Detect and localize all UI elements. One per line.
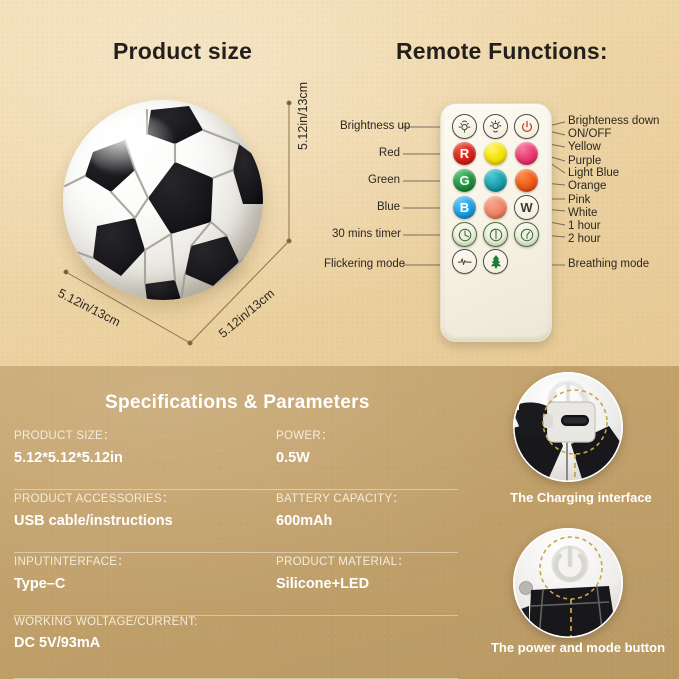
table-row: PRODUCT SIZE： 5.12*5.12*5.12in POWER： 0.… [14,427,472,490]
power-mode-button-photo [513,528,623,638]
table-row: INPUTINTERFACE： Type–C PRODUCT MATERIAL：… [14,553,472,616]
remote-label-white: White [568,207,597,219]
spec-value: 600mAh [276,513,404,529]
blue-button-label: B [460,201,469,214]
yellow-button[interactable] [484,142,507,165]
remote-label-breathing-mode: Breathing mode [568,258,649,270]
flickering-mode-button[interactable] [452,249,477,274]
product-image-soccer-ball [55,96,270,311]
red-button[interactable]: R [453,142,476,165]
white-button[interactable]: W [514,195,539,220]
brightness-up-button[interactable] [452,114,477,139]
remote-label-purple: Purple [568,155,601,167]
specifications-table: PRODUCT SIZE： 5.12*5.12*5.12in POWER： 0.… [14,427,472,679]
remote-button-grid[interactable]: R G B W [449,113,542,275]
remote-label-on-off: ON/OFF [568,128,611,140]
remote-label-red: Red [340,147,400,159]
usb-c-port-photo-illustration [513,372,623,482]
spec-key: PRODUCT MATERIAL： [276,553,409,569]
page-title-product-size: Product size [113,38,252,65]
dimension-label-height: 5.12in/13cm [296,82,310,150]
spec-value: 0.5W [276,450,333,466]
spec-cell-working-voltage: WORKING WOLTAGE/CURRENT: DC 5V/93mA [14,616,198,651]
remote-control-diagram: R G B W [340,95,679,345]
spec-cell-product-accessories: PRODUCT ACCESSORIES： USB cable/instructi… [14,490,174,529]
spec-key: POWER： [276,427,333,443]
brightness-down-icon [488,119,503,134]
remote-label-timer-1hour: 1 hour [568,220,601,232]
clock-2hour-icon [519,227,535,243]
remote-label-brightness-down: Brighteness down [568,115,659,127]
remote-label-flickering-mode: Flickering mode [324,258,400,270]
brightness-down-button[interactable] [483,114,508,139]
green-button-label: G [459,174,469,187]
spec-cell-battery-capacity: BATTERY CAPACITY： 600mAh [276,490,404,529]
timer-30min-button[interactable] [452,222,477,247]
power-icon [520,120,534,134]
remote-label-pink: Pink [568,194,590,206]
remote-label-brightness-up: Brightness up [340,120,400,132]
photo-caption-power-mode-button: The power and mode button [477,640,679,655]
timer-2hour-button[interactable] [514,222,539,247]
remote-label-light-blue: Light Blue [568,167,619,179]
pink-button[interactable] [515,142,538,165]
spec-key: PRODUCT ACCESSORIES： [14,490,174,506]
blue-button[interactable]: B [453,196,476,219]
spec-cell-power: POWER： 0.5W [276,427,333,466]
power-button-photo-illustration [513,528,623,638]
power-button[interactable] [514,114,539,139]
purple-button[interactable] [484,196,507,219]
clock-30min-icon [457,227,473,243]
remote-label-timer-2hour: 2 hour [568,233,601,245]
remote-label-green: Green [340,174,400,186]
spec-cell-input-interface: INPUTINTERFACE： Type–C [14,553,129,592]
spec-key: INPUTINTERFACE： [14,553,129,569]
remote-label-timer-30min: 30 mins timer [332,228,400,240]
spec-cell-product-size: PRODUCT SIZE： 5.12*5.12*5.12in [14,427,123,466]
spec-value: 5.12*5.12*5.12in [14,450,123,466]
green-button[interactable]: G [453,169,476,192]
spec-value: Type–C [14,576,129,592]
ball-panels-icon [63,100,263,300]
photo-caption-charging-interface: The Charging interface [491,490,671,505]
tree-icon [489,254,503,269]
remote-label-orange: Orange [568,180,606,192]
spec-cell-product-material: PRODUCT MATERIAL： Silicone+LED [276,553,409,592]
spec-key: WORKING WOLTAGE/CURRENT: [14,616,198,628]
remote-label-yellow: Yellow [568,141,601,153]
page-title-remote-functions: Remote Functions: [396,38,608,65]
spec-key: BATTERY CAPACITY： [276,490,404,506]
section-title-specifications: Specifications & Parameters [105,392,370,414]
spec-value: USB cable/instructions [14,513,174,529]
product-infographic: Product size Remote Functions: [0,0,679,679]
brightness-up-icon [457,119,472,134]
white-button-label: W [520,201,532,214]
spec-value: Silicone+LED [276,576,409,592]
spec-value: DC 5V/93mA [14,635,198,651]
breathing-mode-button[interactable] [483,249,508,274]
clock-1hour-icon [488,227,504,243]
timer-1hour-button[interactable] [483,222,508,247]
remote-label-blue: Blue [340,201,400,213]
ball-body [63,100,263,300]
charging-interface-photo [513,372,623,482]
light-blue-button[interactable] [484,169,507,192]
red-button-label: R [460,147,469,160]
table-row: WORKING WOLTAGE/CURRENT: DC 5V/93mA [14,616,472,679]
pulse-icon [457,255,473,268]
table-row: PRODUCT ACCESSORIES： USB cable/instructi… [14,490,472,553]
spec-key: PRODUCT SIZE： [14,427,123,443]
orange-button[interactable] [515,169,538,192]
